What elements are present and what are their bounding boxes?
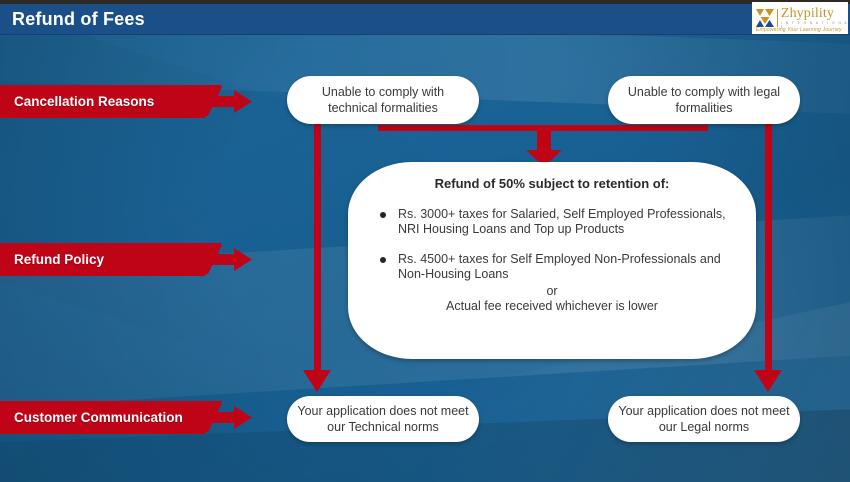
policy-list: Rs. 3000+ taxes for Salaried, Self Emplo… [374, 207, 730, 282]
brand-logo: Zhypility I N T E R N A T I O N A L Empo… [752, 2, 848, 34]
bullet-icon [380, 257, 386, 263]
policy-item-text: Rs. 4500+ taxes for Self Employed Non-Pr… [398, 252, 721, 281]
stage-label: Refund Policy [14, 243, 104, 276]
policy-tail-text: Actual fee received whichever is lower [374, 299, 730, 314]
node-reason-legal[interactable]: Unable to comply with legal formalities [608, 76, 800, 124]
stage-arrow-icon [196, 245, 256, 274]
stage-label: Customer Communication [14, 401, 183, 434]
node-message-legal[interactable]: Your application does not meet our Legal… [608, 396, 800, 442]
logo-tagline: Empowering Your Learning Journey [756, 27, 842, 33]
slide-canvas: Refund of Fees Zhypility I N T E R N A T… [0, 0, 850, 482]
stage-banner-customer-communication: Customer Communication [0, 401, 255, 434]
connector-stem-to-policy [537, 125, 551, 153]
node-reason-technical[interactable]: Unable to comply with technical formalit… [287, 76, 479, 124]
node-message-technical[interactable]: Your application does not meet our Techn… [287, 396, 479, 442]
logo-triangles-icon [755, 7, 775, 29]
stage-label: Cancellation Reasons [14, 85, 154, 118]
connector-arrowhead-legal [754, 370, 782, 392]
stage-banner-cancellation-reasons: Cancellation Reasons [0, 85, 255, 118]
connector-line-technical [314, 122, 321, 374]
connector-arrowhead-technical [303, 370, 331, 392]
logo-brand-name: Zhypility [781, 7, 848, 21]
connector-line-legal [765, 122, 772, 374]
policy-list-item: Rs. 3000+ taxes for Salaried, Self Emplo… [374, 207, 730, 238]
stage-arrow-icon [196, 87, 256, 116]
page-title: Refund of Fees [12, 5, 145, 33]
logo-divider [777, 9, 778, 27]
policy-item-text: Rs. 3000+ taxes for Salaried, Self Emplo… [398, 207, 726, 236]
policy-list-item: Rs. 4500+ taxes for Self Employed Non-Pr… [374, 252, 730, 283]
bullet-icon [380, 212, 386, 218]
policy-heading: Refund of 50% subject to retention of: [374, 176, 730, 191]
stage-arrow-icon [196, 403, 256, 432]
policy-or-separator: or [374, 284, 730, 299]
stage-banner-refund-policy: Refund Policy [0, 243, 255, 276]
refund-policy-panel: Refund of 50% subject to retention of: R… [348, 162, 756, 359]
logo-text: Zhypility I N T E R N A T I O N A L [781, 7, 848, 28]
